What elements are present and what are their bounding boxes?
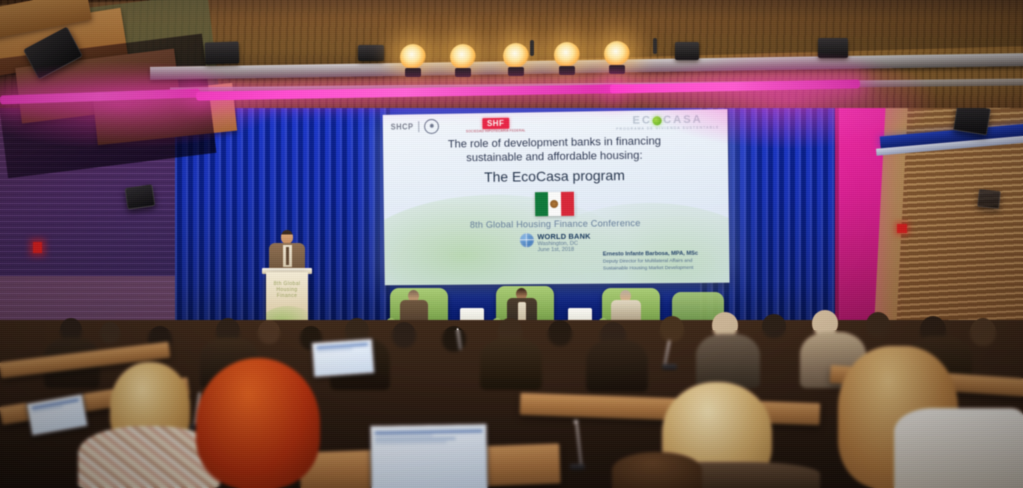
exit-sign-icon bbox=[33, 242, 42, 253]
spotlight-clamp-1 bbox=[405, 68, 421, 77]
spotlight-3 bbox=[503, 43, 529, 69]
laptop-screen-line bbox=[375, 434, 433, 437]
laptop-screen-line bbox=[316, 348, 352, 352]
flag-red-band bbox=[561, 192, 575, 216]
spotlight-1 bbox=[400, 44, 426, 70]
delegate-microphone-tip bbox=[574, 420, 578, 424]
world-bank-text: WORLD BANK Washington, DC June 1st, 2018 bbox=[537, 232, 591, 254]
shf-logo-subtitle: SOCIEDAD HIPOTECARIA FEDERAL bbox=[466, 128, 526, 133]
audience-torso bbox=[696, 334, 760, 388]
presenter-block: Ernesto Infante Barbosa, MPA, MSc Deputy… bbox=[603, 250, 723, 273]
laptop-screen bbox=[311, 338, 375, 378]
audience-head bbox=[392, 322, 416, 348]
audience-head bbox=[970, 318, 996, 346]
wall-speaker-right-lower bbox=[977, 189, 1001, 209]
audience-head bbox=[442, 326, 466, 352]
truss-fixture-left bbox=[205, 41, 240, 64]
mexico-emblem-icon: ◉ bbox=[424, 118, 439, 133]
flag-green-band bbox=[534, 192, 548, 216]
spotlight-clamp-3 bbox=[508, 67, 524, 76]
spotlight-4 bbox=[554, 42, 580, 68]
podium-speaker-tie bbox=[286, 247, 289, 265]
laptop-screen-line bbox=[375, 441, 447, 444]
audience-head bbox=[100, 322, 120, 344]
truss-fixture-far-right bbox=[818, 38, 848, 58]
audience-laptop bbox=[369, 423, 486, 488]
truss-fixture-right bbox=[675, 42, 699, 60]
projection-screen: SHCP ◉ SHF SOCIEDAD HIPOTECARIA FEDERAL … bbox=[383, 109, 730, 285]
audience-laptop bbox=[311, 338, 373, 376]
laptop-screen bbox=[369, 423, 488, 488]
shcp-logo: SHCP bbox=[391, 122, 414, 132]
delegate-microphone-base bbox=[662, 364, 677, 370]
slide-logos-right: EC CASA PROGRAMA DE VIVIENDA SUSTENTABLE bbox=[616, 113, 720, 131]
world-bank-date: June 1st, 2018 bbox=[537, 247, 590, 254]
panelist-2-shirt bbox=[518, 302, 526, 322]
presenter-role-line1: Deputy Director for Multilateral Affairs… bbox=[603, 259, 722, 266]
foreground-person-right-edge bbox=[612, 452, 702, 488]
wall-speaker-right bbox=[953, 104, 991, 136]
audience-head bbox=[762, 314, 786, 338]
audience-head bbox=[866, 312, 890, 338]
audience-head bbox=[548, 320, 572, 346]
audience-torso bbox=[586, 340, 648, 392]
slide-title-block: The role of development banks in financi… bbox=[383, 133, 728, 185]
truss-hanger-2 bbox=[653, 38, 657, 54]
podium-sign-text: 8th Global Housing Finance bbox=[266, 281, 308, 299]
spotlight-5 bbox=[604, 41, 630, 67]
shf-logo: SHF bbox=[482, 117, 509, 128]
slide-logos-left: SHCP ◉ SHF SOCIEDAD HIPOTECARIA FEDERAL bbox=[391, 117, 526, 134]
mexico-flag-icon bbox=[534, 192, 574, 216]
conference-photo: SHCP ◉ SHF SOCIEDAD HIPOTECARIA FEDERAL … bbox=[0, 0, 1023, 488]
podium-speaker-head bbox=[281, 230, 293, 244]
foreground-person-redhead-hair bbox=[196, 358, 320, 488]
spotlight-clamp-2 bbox=[455, 68, 471, 77]
wall-speaker-left bbox=[125, 184, 156, 210]
laptop-screen-line bbox=[375, 430, 483, 433]
slide-logo-bar: SHCP ◉ SHF SOCIEDAD HIPOTECARIA FEDERAL … bbox=[383, 111, 728, 137]
laptop-screen-line bbox=[316, 343, 368, 348]
audience-head bbox=[660, 316, 684, 342]
spotlight-2 bbox=[450, 44, 476, 70]
flag-seal-icon bbox=[551, 200, 559, 208]
slide-title-line1: The role of development banks in financi… bbox=[448, 135, 661, 150]
exit-sign-right-icon bbox=[897, 224, 907, 233]
world-bank-name: WORLD BANK bbox=[537, 232, 590, 242]
spotlight-clamp-4 bbox=[559, 66, 575, 75]
laptop-screen-line bbox=[375, 438, 456, 441]
logo-divider bbox=[418, 121, 419, 132]
audience-torso bbox=[480, 338, 542, 390]
presenter-name: Ernesto Infante Barbosa, MPA, MSc bbox=[603, 250, 722, 258]
spotlight-clamp-5 bbox=[609, 65, 625, 74]
truss-fixture-mid bbox=[358, 45, 384, 61]
flag-white-band bbox=[548, 192, 562, 216]
ecocasa-logo: EC CASA bbox=[632, 114, 702, 127]
truss-hanger-1 bbox=[530, 40, 534, 56]
globe-icon bbox=[519, 233, 533, 247]
slide-title-line3: The EcoCasa program bbox=[401, 167, 710, 185]
slide-title-line2: sustainable and affordable housing: bbox=[466, 150, 642, 165]
world-bank-block: WORLD BANK Washington, DC June 1st, 2018 bbox=[519, 232, 591, 254]
delegate-microphone-base bbox=[570, 464, 585, 470]
audience-head bbox=[258, 320, 280, 344]
podium-sign-line2: Housing Finance bbox=[276, 287, 297, 299]
ecocasa-green-dot-icon bbox=[653, 116, 662, 125]
foreground-person-white-blouse bbox=[894, 408, 1023, 488]
